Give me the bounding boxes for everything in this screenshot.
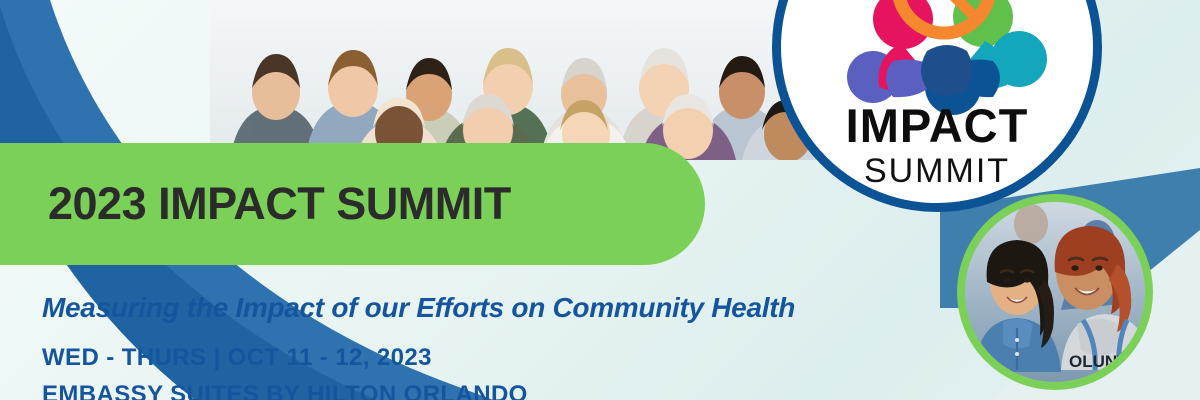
volunteer-photo: OLUNTEER — [957, 194, 1153, 390]
volunteer-photo-illustration: OLUNTEER — [965, 202, 1145, 382]
logo-wordmark: IMPACT — [772, 98, 1102, 153]
page-title: 2023 IMPACT SUMMIT — [48, 178, 511, 230]
event-dateline: WED - THURS | OCT 11 - 12, 2023 — [42, 344, 432, 372]
logo-subwordmark: SUMMIT — [772, 152, 1102, 191]
volunteer-shirt-text: OLUNTEER — [1069, 352, 1145, 371]
event-venue: EMBASSY SUITES BY HILTON ORLANDO — [42, 381, 528, 400]
tagline: Measuring the Impact of our Efforts on C… — [42, 292, 795, 324]
impact-summit-banner: 2023 IMPACT SUMMIT Measuring the Impact … — [0, 0, 1200, 400]
